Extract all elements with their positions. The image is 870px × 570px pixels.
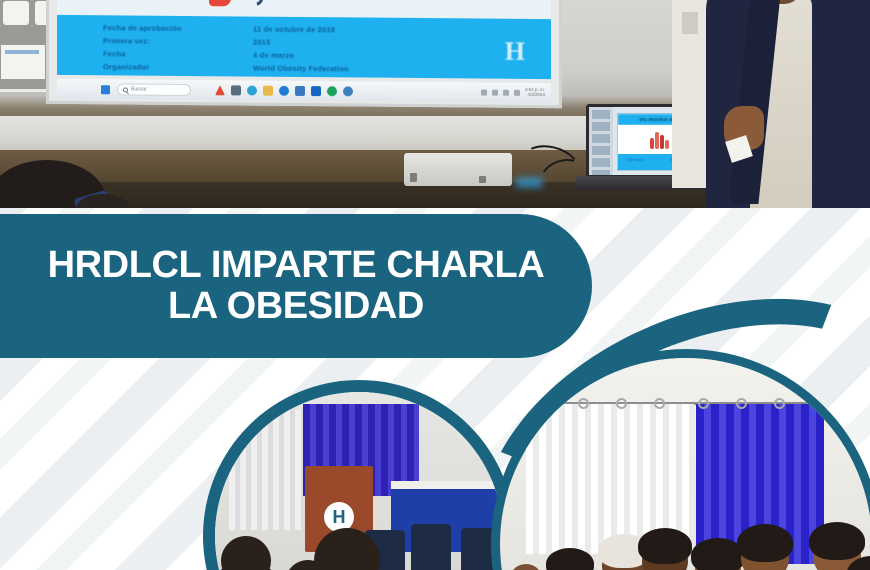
curtain-ring bbox=[812, 398, 823, 409]
powerpoint-slide-panel bbox=[589, 107, 613, 175]
board-poster-1 bbox=[3, 1, 29, 25]
search-placeholder: Buscar bbox=[131, 86, 147, 92]
taskbar-icon-3[interactable] bbox=[247, 86, 257, 96]
taskbar-icon-1[interactable] bbox=[215, 85, 225, 95]
world-obesity-day-logo-icon bbox=[209, 0, 265, 13]
taskbar-icon-6[interactable] bbox=[295, 86, 305, 96]
taskbar-icon-7[interactable] bbox=[311, 86, 321, 96]
curtain-ring bbox=[654, 398, 665, 409]
taskbar-search-input[interactable]: Buscar bbox=[117, 83, 191, 96]
board-poster-3 bbox=[1, 45, 45, 79]
slide-header-band bbox=[57, 0, 551, 19]
slide-row-value: 4 de marzo bbox=[253, 51, 294, 60]
headline-line-1: HRDLCL IMPARTE CHARLA bbox=[48, 244, 545, 286]
headline-line-2: LA OBESIDAD bbox=[48, 286, 545, 327]
curtain-ring bbox=[578, 398, 589, 409]
windows-start-icon[interactable] bbox=[101, 85, 110, 94]
search-icon bbox=[123, 87, 128, 92]
photo-circle-group bbox=[500, 358, 870, 570]
slide-row-key: Fecha de aprobación bbox=[103, 23, 253, 33]
taskbar-app-icons[interactable] bbox=[215, 85, 353, 96]
audience-group bbox=[215, 505, 503, 570]
audience-member bbox=[215, 562, 287, 570]
taskbar-icon-8[interactable] bbox=[327, 86, 337, 96]
battery-icon[interactable] bbox=[514, 90, 520, 96]
photo-circle-audience: H bbox=[215, 392, 503, 570]
poster-canvas: Fecha de aprobación 11 de octubre de 201… bbox=[0, 0, 870, 570]
clock-date: 4/3/2024 bbox=[525, 93, 545, 98]
curtain-ring bbox=[774, 398, 785, 409]
taskbar-system-tray[interactable]: 3:54 p. m. 4/3/2024 bbox=[481, 88, 545, 98]
slide-row-key: Primera vez: bbox=[103, 36, 253, 46]
windows-taskbar[interactable]: Buscar bbox=[57, 79, 551, 103]
taskbar-icon-5[interactable] bbox=[279, 86, 289, 96]
group-people bbox=[500, 500, 870, 570]
curtain-ring bbox=[698, 398, 709, 409]
laptop-footer-left: 4 de marzo bbox=[626, 158, 643, 162]
slide-watermark-letter: H bbox=[505, 37, 525, 67]
curtain-ring bbox=[540, 398, 551, 409]
top-photo-conference-room: Fecha de aprobación 11 de octubre de 201… bbox=[0, 0, 870, 208]
slide-row-value: World Obesity Federation bbox=[253, 64, 349, 74]
slide-row: Organizador World Obesity Federation bbox=[103, 60, 503, 76]
slide-row-key: Fecha bbox=[103, 49, 253, 59]
projected-slide: Fecha de aprobación 11 de octubre de 201… bbox=[57, 0, 551, 79]
projector-device bbox=[404, 153, 512, 186]
taskbar-icon-9[interactable] bbox=[343, 86, 353, 96]
curtain-ring bbox=[736, 398, 747, 409]
title-banner: HRDLCL IMPARTE CHARLA LA OBESIDAD bbox=[0, 214, 592, 358]
network-icon[interactable] bbox=[492, 90, 498, 96]
slide-row-value: 11 de octubre de 2018 bbox=[253, 25, 335, 35]
page-title: HRDLCL IMPARTE CHARLA LA OBESIDAD bbox=[48, 245, 545, 327]
projector-light-glow bbox=[516, 178, 542, 187]
taskbar-clock[interactable]: 3:54 p. m. 4/3/2024 bbox=[525, 88, 545, 98]
slide-row-value: 2015 bbox=[253, 38, 271, 47]
slide-row-key: Organizador bbox=[103, 62, 253, 72]
world-obesity-day-mark-icon bbox=[650, 131, 670, 149]
taskbar-icon-folder[interactable] bbox=[263, 86, 273, 96]
chevron-up-icon[interactable] bbox=[481, 90, 487, 96]
slide-fact-rows: Fecha de aprobación 11 de octubre de 201… bbox=[103, 21, 503, 76]
taskbar-icon-2[interactable] bbox=[231, 85, 241, 95]
presenter-person bbox=[706, 0, 870, 208]
volume-icon[interactable] bbox=[503, 90, 509, 96]
curtain-ring bbox=[616, 398, 627, 409]
projection-screen: Fecha de aprobación 11 de octubre de 201… bbox=[46, 0, 562, 108]
